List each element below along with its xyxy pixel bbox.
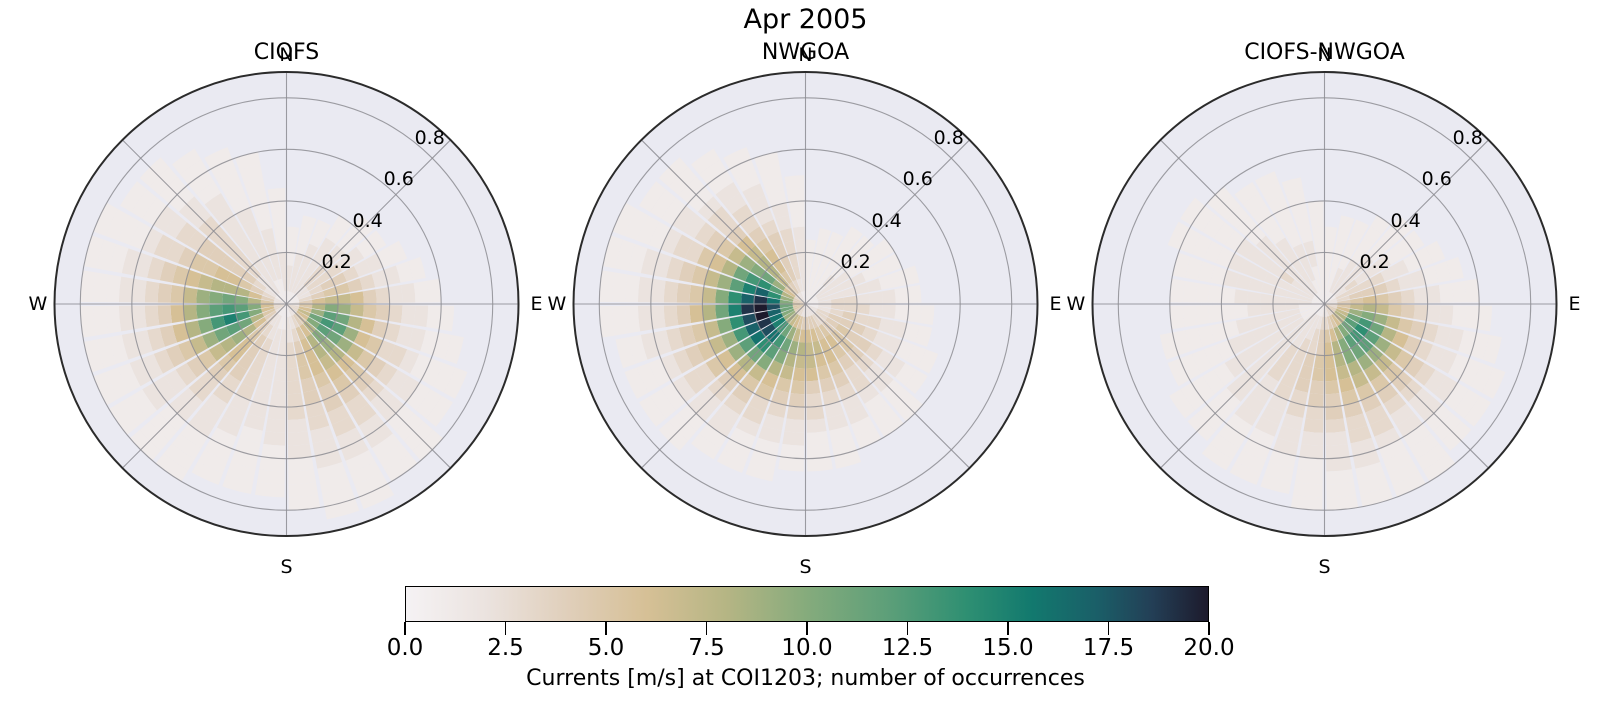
rose-cell [784,418,804,432]
compass-label-north: N [798,46,812,65]
rose-cell [793,227,805,241]
compass-label-south: S [1318,558,1330,577]
rose-cell [780,444,804,459]
rose-cell [288,431,310,446]
rose-cell [1308,201,1324,215]
colorbar-tick [907,622,908,635]
rose-cell [196,305,210,319]
rose-cell [1310,380,1324,394]
radial-tick-label: 0.6 [384,170,414,189]
rose-cell [1209,305,1223,323]
rose-cell [209,305,223,317]
radial-tick-label: 0.8 [415,129,445,148]
rose-cell [287,380,301,394]
compass-label-west: W [548,295,567,314]
rose-cell [791,380,805,394]
rose-cell [287,393,303,407]
rose-cell [196,289,210,303]
rose-cell [715,289,729,303]
polar-axes [18,40,555,580]
rose-cell [261,444,285,459]
rose-cell [1247,305,1261,317]
radial-tick-label: 0.2 [1360,253,1390,272]
rose-cell [270,201,286,215]
rose-cell [350,305,364,317]
rose-cell [268,406,286,420]
rose-cell [625,306,640,334]
rose-cell [401,283,415,303]
colorbar-tick [505,622,506,635]
compass-label-south: S [799,558,811,577]
rose-cell [1401,305,1415,319]
rose-cell [806,393,822,407]
rose-cell [690,285,704,303]
rose-cell [1308,393,1324,407]
polar-plot-ciofs: NSEW0.20.40.60.8 [18,40,555,580]
rose-cell [274,227,286,241]
rose-cell [1303,418,1323,432]
polar-plot-ciofs-nwgoa: NSEW0.20.40.60.8 [1056,40,1593,580]
rose-cell [882,289,896,303]
rose-cell [209,291,223,303]
rose-cell [1295,469,1323,484]
polar-axes [1056,40,1593,580]
colorbar-tick-labels: 0.02.55.07.510.012.515.017.520.0 [0,635,1611,663]
rose-cell [1326,406,1344,420]
rose-cell [145,281,160,303]
rose-cell [401,305,415,325]
radial-tick-label: 0.4 [353,212,383,231]
colorbar-tick-label: 10.0 [781,635,832,662]
rose-cell [388,305,402,323]
rose-cell [1196,283,1210,303]
rose-cell [728,305,742,317]
rose-cell [288,469,316,484]
polar-panel-ciofs-nwgoa: CIOFS-NWGOA NSEW0.20.40.60.8 [1056,40,1593,580]
rose-cell [1221,305,1235,321]
rose-cell [158,305,172,325]
rose-cell [1196,305,1210,325]
radial-tick-label: 0.4 [872,212,902,231]
rose-cell [1325,393,1341,407]
rose-cell [806,380,820,394]
colorbar-block: 0.02.55.07.510.012.515.017.520.0 Current… [0,578,1611,724]
rose-cell [1306,406,1324,420]
rose-cell [106,306,121,334]
colorbar-tick [1208,622,1209,635]
colorbar-tick [404,622,405,635]
rose-cell [1247,291,1261,303]
rose-cell [702,305,716,321]
rose-cell [793,368,805,382]
rose-cell [1326,444,1350,459]
colorbar-tick [706,622,707,635]
colorbar-tick-label: 15.0 [982,635,1033,662]
rose-cell [388,285,402,303]
rose-cell [1325,380,1339,394]
rose-cell [807,444,831,459]
figure-canvas: Apr 2005 CIOFS NSEW0.20.40.60.8 NWGOA NS… [0,0,1611,724]
colorbar-tick-label: 2.5 [487,635,524,662]
rose-cell [171,305,185,323]
rose-cell [784,175,804,189]
rose-cell [1310,214,1324,228]
radial-tick-label: 0.2 [841,253,871,272]
rose-cell [1299,444,1323,459]
radial-tick-label: 0.4 [1391,212,1421,231]
rose-cell [426,279,441,303]
rose-cell [1326,469,1354,484]
rose-cell [690,305,704,323]
radial-tick-label: 0.6 [903,170,933,189]
radial-tick-label: 0.6 [1422,170,1452,189]
rose-cell [1170,305,1185,329]
rose-cell [1452,305,1467,327]
rose-cell [1388,291,1402,303]
rose-cell [1414,287,1428,303]
colorbar-tick-label: 7.5 [688,635,725,662]
rose-cell [1301,431,1323,446]
rose-cell [1325,227,1337,241]
rose-cell [145,305,160,327]
rose-cell [1312,368,1324,382]
rose-cell [791,214,805,228]
figure-suptitle: Apr 2005 [0,4,1611,36]
rose-cell [1464,279,1479,303]
rose-cell [728,291,742,303]
rose-cell [1234,289,1248,303]
rose-cell [677,305,691,325]
radial-tick-label: 0.8 [934,129,964,148]
rose-cell [1326,431,1348,446]
colorbar-tick-label: 0.0 [387,635,424,662]
rose-cell [782,431,804,446]
rose-cell [1426,305,1440,323]
rose-cell [715,305,729,319]
rose-cell [257,469,285,484]
radial-tick-label: 0.8 [1453,129,1483,148]
rose-cell [350,291,364,303]
rose-cell [1414,305,1428,321]
rose-cell [1183,281,1198,303]
rose-cell [376,305,390,321]
rose-cell [183,305,197,321]
rose-cell [363,289,377,303]
rose-cell [1326,418,1346,432]
rose-cell [702,287,716,303]
colorbar-tick [605,622,606,635]
rose-cell [1234,305,1248,319]
rose-cell [288,444,312,459]
rose-cell [651,305,666,329]
rose-cell [1439,305,1453,325]
rose-cell [183,287,197,303]
rose-cell [1401,289,1415,303]
colorbar-tick [1108,622,1109,635]
rose-cell [1170,279,1185,303]
rose-cell [1221,287,1235,303]
polar-panel-nwgoa: NWGOA NSEW0.20.40.60.8 [537,40,1074,580]
rose-cell [677,283,691,303]
rose-cell [414,305,429,327]
compass-label-north: N [1317,46,1331,65]
rose-cell [664,281,679,303]
colorbar-tick-label: 12.5 [882,635,933,662]
rose-cell [789,201,805,215]
polar-axes [537,40,1074,580]
rose-cell [288,418,308,432]
rose-cell [787,406,805,420]
rose-cell [171,285,185,303]
rose-cell [882,305,896,319]
rose-cell [263,431,285,446]
rose-cell [287,227,299,241]
colorbar-ticks [405,622,1209,636]
polar-panel-ciofs: CIOFS NSEW0.20.40.60.8 [18,40,555,580]
rose-cell [272,214,286,228]
rose-cell [1388,305,1402,317]
rose-cell [807,406,825,420]
compass-label-west: W [1067,295,1086,314]
rose-cell [1464,305,1479,329]
rose-cell [907,305,921,323]
rose-cell [1312,227,1324,241]
rose-cell [268,188,286,202]
rose-cell [287,368,299,382]
rose-cell [132,305,147,329]
colorbar-tick-label: 20.0 [1183,635,1234,662]
rose-cell [132,279,147,303]
rose-cell [907,285,921,303]
compass-label-east: E [1569,295,1581,314]
rose-cell [106,275,121,303]
colorbar-tick [1007,622,1008,635]
colorbar-tick-label: 17.5 [1083,635,1134,662]
rose-cell [625,275,640,303]
compass-label-west: W [29,295,48,314]
rose-cell [288,406,306,420]
rose-cell [270,393,286,407]
rose-cell [1325,368,1337,382]
radial-tick-label: 0.2 [322,253,352,272]
rose-cell [664,305,679,327]
polar-plot-nwgoa: NSEW0.20.40.60.8 [537,40,1074,580]
rose-cell [376,287,390,303]
rose-cell [895,287,909,303]
colorbar-tick-label: 5.0 [588,635,625,662]
rose-cell [1439,283,1453,303]
rose-cell [920,305,934,325]
rose-cell [272,380,286,394]
rose-cell [363,305,377,319]
rose-cell [789,393,805,407]
rose-cell [807,431,829,446]
rose-cell [274,368,286,382]
rose-cell [651,279,666,303]
rose-cell [426,305,441,329]
rose-cell [1452,281,1467,303]
rose-cell [869,291,883,303]
rose-cell [787,188,805,202]
rose-cell [869,305,883,317]
rose-cell [1183,305,1198,327]
rose-cell [1426,285,1440,303]
rose-cell [807,418,827,432]
compass-label-north: N [279,46,293,65]
rose-cell [414,281,429,303]
colorbar-axis-label: Currents [m/s] at COI1203; number of occ… [0,666,1611,692]
rose-cell [158,283,172,303]
rose-cell [1209,285,1223,303]
rose-cell [806,368,818,382]
colorbar-gradient [405,586,1209,622]
rose-cell [265,418,285,432]
rose-cell [895,305,909,321]
compass-label-south: S [280,558,292,577]
colorbar-tick [806,622,807,635]
